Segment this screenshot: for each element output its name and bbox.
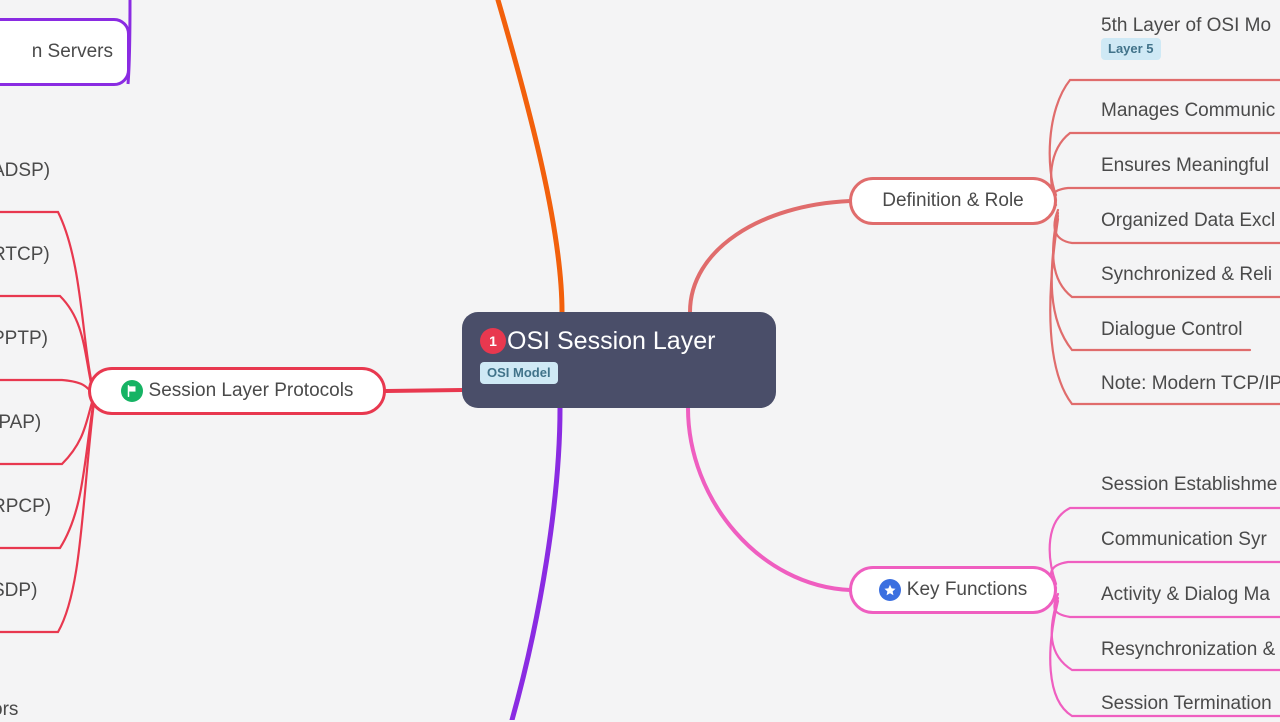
leaf-key-functions-1-label: Session Establishme — [1101, 474, 1277, 495]
flag-icon — [121, 380, 143, 402]
leaf-key-functions-5[interactable]: Session Termination — [1101, 692, 1272, 716]
leaf-key-functions-1[interactable]: Session Establishme — [1101, 473, 1277, 497]
leaf-definition-2-label: Manages Communic — [1101, 100, 1275, 121]
leaf-definition-7[interactable]: Note: Modern TCP/IP — [1101, 372, 1280, 396]
leaf-definition-6-label: Dialogue Control — [1101, 319, 1243, 340]
leaf-key-functions-5-label: Session Termination — [1101, 693, 1272, 714]
leaf-protocol-5[interactable]: RPCP) — [0, 495, 51, 519]
mindmap-canvas[interactable]: n Servers 1 OSI Session Layer OSI Model … — [0, 0, 1280, 720]
leaf-key-functions-4[interactable]: Resynchronization & — [1101, 638, 1275, 662]
leaf-definition-4-label: Organized Data Excl — [1101, 210, 1275, 231]
connector-orange-up — [498, 0, 562, 312]
node-session-layer-protocols[interactable]: Session Layer Protocols — [88, 367, 386, 415]
leaf-link-def-3 — [1052, 188, 1280, 205]
star-icon — [879, 579, 901, 601]
leaf-key-functions-2-label: Communication Syr — [1101, 529, 1267, 550]
node-key-functions[interactable]: Key Functions — [849, 566, 1057, 614]
leaf-definition-2[interactable]: Manages Communic — [1101, 99, 1275, 123]
leaf-protocol-2-label: RTCP) — [0, 244, 50, 265]
leaf-protocol-3[interactable]: PPTP) — [0, 327, 48, 351]
central-title-row: 1 OSI Session Layer — [480, 326, 758, 356]
leaf-key-functions-3-label: Activity & Dialog Ma — [1101, 584, 1270, 605]
leaf-key-functions-3[interactable]: Activity & Dialog Ma — [1101, 583, 1270, 607]
node-session-layer-protocols-label: Session Layer Protocols — [149, 380, 354, 402]
leaf-protocol-4-label: (PAP) — [0, 412, 41, 433]
node-definition-and-role[interactable]: Definition & Role — [849, 177, 1057, 225]
leaf-definition-1[interactable]: 5th Layer of OSI Mo Layer 5 — [1101, 14, 1271, 60]
leaf-protocol-1-label: ADSP) — [0, 160, 50, 181]
leaf-key-functions-2[interactable]: Communication Syr — [1101, 528, 1267, 552]
connector-definition — [690, 201, 850, 312]
node-servers[interactable]: n Servers — [0, 18, 130, 86]
leaf-definition-3-label: Ensures Meaningful — [1101, 155, 1269, 176]
leaf-protocol-5-label: RPCP) — [0, 496, 51, 517]
node-definition-and-role-label: Definition & Role — [882, 190, 1024, 212]
leaf-protocol-6[interactable]: SDP) — [0, 579, 37, 603]
leaf-protocol-6-label: SDP) — [0, 580, 37, 601]
leaf-definition-1-label: 5th Layer of OSI Mo — [1101, 14, 1271, 38]
leaf-definition-4[interactable]: Organized Data Excl — [1101, 209, 1275, 233]
central-title-text: OSI Session Layer — [507, 326, 715, 356]
connector-protocols — [386, 390, 462, 391]
central-node[interactable]: 1 OSI Session Layer OSI Model — [462, 312, 776, 408]
leaf-definition-1-tag: Layer 5 — [1101, 38, 1161, 60]
leaf-definition-6[interactable]: Dialogue Control — [1101, 318, 1243, 342]
connector-purple-down — [512, 408, 560, 720]
leaf-bottom-clipped[interactable]: ors — [0, 698, 18, 722]
leaf-definition-3[interactable]: Ensures Meaningful — [1101, 154, 1269, 178]
central-number-badge: 1 — [480, 328, 506, 354]
leaf-protocol-2[interactable]: RTCP) — [0, 243, 50, 267]
leaf-link-proto-1 — [0, 212, 92, 384]
leaf-link-proto-3 — [0, 380, 92, 392]
central-tag: OSI Model — [480, 362, 558, 384]
leaf-definition-5-label: Synchronized & Reli — [1101, 264, 1272, 285]
node-servers-label: n Servers — [32, 41, 113, 63]
leaf-protocol-3-label: PPTP) — [0, 328, 48, 349]
node-key-functions-label: Key Functions — [907, 579, 1027, 601]
leaf-protocol-4[interactable]: (PAP) — [0, 411, 41, 435]
connector-key-functions — [688, 408, 850, 590]
leaf-protocol-1[interactable]: ADSP) — [0, 159, 50, 183]
leaf-definition-5[interactable]: Synchronized & Reli — [1101, 263, 1272, 287]
leaf-bottom-clipped-label: ors — [0, 699, 18, 720]
leaf-key-functions-4-label: Resynchronization & — [1101, 639, 1275, 660]
leaf-definition-7-label: Note: Modern TCP/IP — [1101, 373, 1280, 394]
